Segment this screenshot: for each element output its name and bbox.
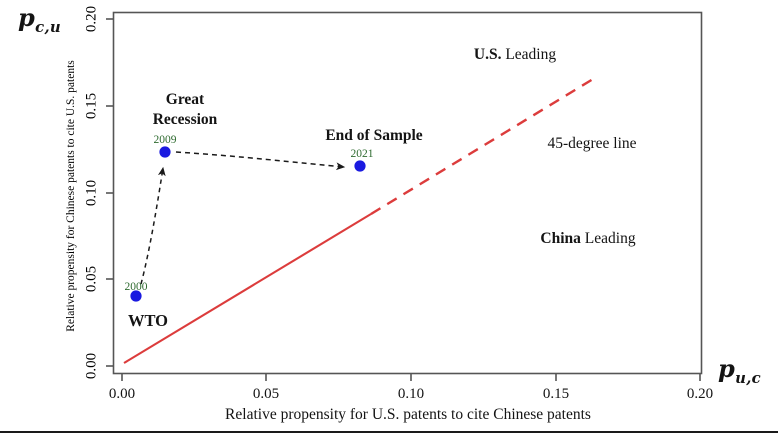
annotation-great-recession-line2: Recession: [153, 112, 218, 128]
annotation-end-of-sample: End of Sample: [325, 128, 422, 144]
data-point-2021[interactable]: [354, 160, 365, 171]
x-tick-005: 0.05: [253, 387, 279, 402]
point-label-2009: 2009: [154, 135, 177, 147]
x-axis-symbol-sub: u,c: [735, 369, 761, 387]
x-tick-000: 0.00: [109, 387, 135, 402]
y-axis-symbol-sub: c,u: [35, 18, 61, 36]
x-axis-title: Relative propensity for U.S. patents to …: [225, 407, 591, 423]
x-tick-015: 0.15: [543, 387, 569, 402]
x-axis-symbol-base: p: [718, 354, 735, 383]
annotation-china-leading-bold: China: [540, 230, 581, 247]
annotation-us-leading: U.S. Leading: [474, 47, 556, 63]
annotation-china-leading: China Leading: [540, 231, 635, 247]
annotation-great-recession-line1: Great: [166, 92, 204, 108]
arrow-2000-to-2009: [141, 168, 163, 284]
x-axis-ticks: [122, 374, 700, 382]
y-axis-symbol-base: p: [18, 3, 35, 32]
figure-container: pc,u pu,c 0.20 0.15 0.10 0.05 0.00 Relat…: [0, 0, 778, 438]
point-label-2000: 2000: [125, 282, 148, 294]
x-tick-010: 0.10: [398, 387, 424, 402]
annotation-wto: WTO: [128, 313, 168, 330]
annotation-china-leading-rest: Leading: [581, 230, 636, 247]
bottom-divider: [0, 431, 778, 433]
x-axis-symbol: pu,c: [718, 357, 761, 386]
plot-canvas: [0, 0, 778, 438]
annotation-us-leading-rest: Leading: [501, 46, 556, 63]
y-axis-symbol: pc,u: [18, 6, 61, 35]
arrow-2009-to-2021: [176, 152, 344, 167]
y-axis-ticks: [106, 19, 114, 366]
annotation-45-degree-line: 45-degree line: [547, 136, 636, 152]
data-point-2009[interactable]: [159, 146, 170, 157]
reference-line-solid: [124, 214, 371, 363]
x-tick-020: 0.20: [687, 387, 713, 402]
point-label-2021: 2021: [351, 149, 374, 161]
annotation-us-leading-bold: U.S.: [474, 46, 502, 63]
